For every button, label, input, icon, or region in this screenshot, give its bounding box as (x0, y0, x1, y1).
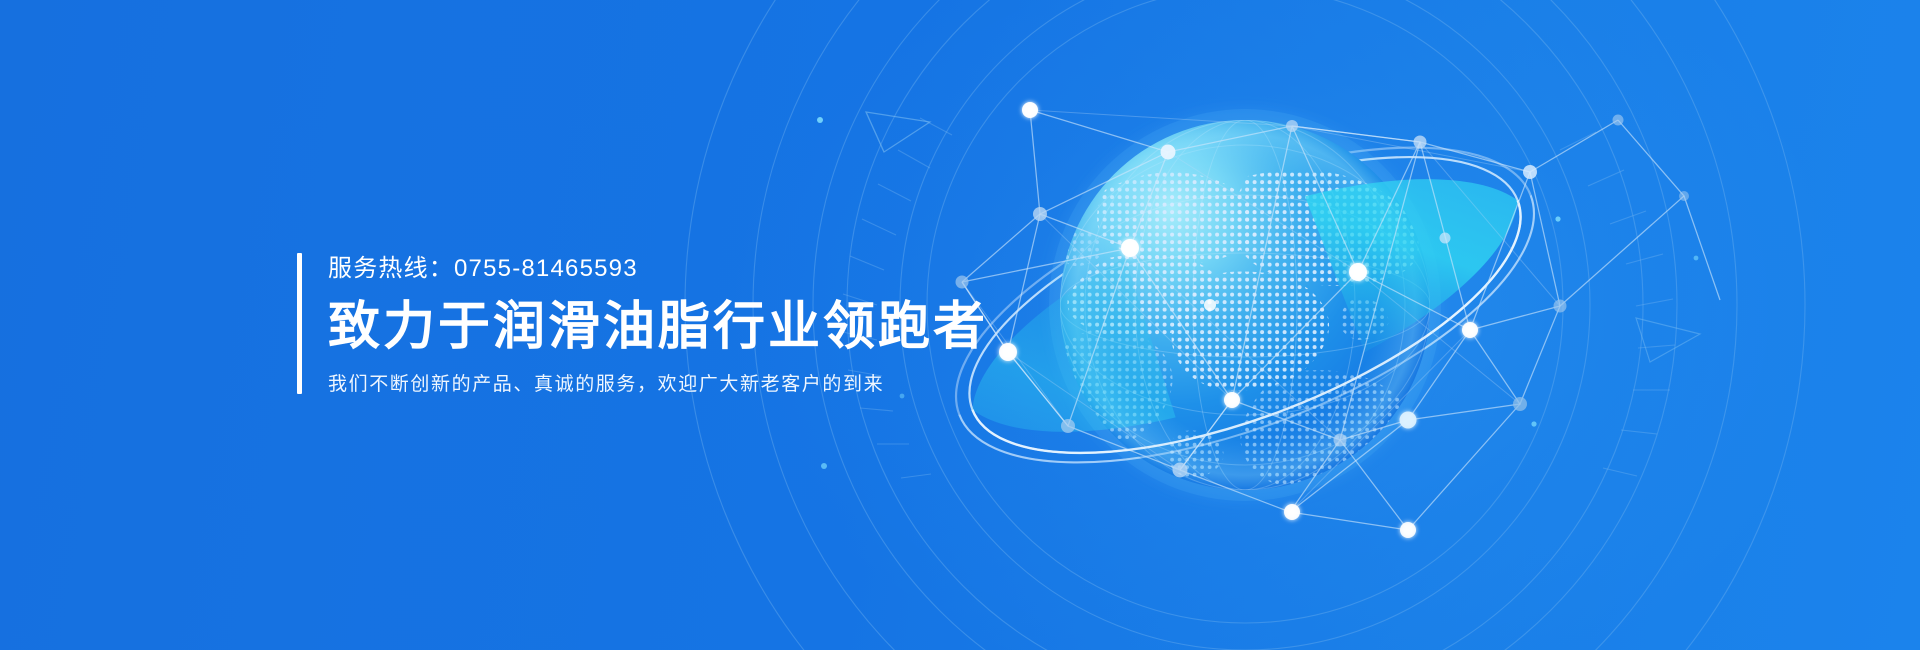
hero-text-column: 服务热线：0755-81465593 致力于润滑油脂行业领跑者 我们不断创新的产… (302, 253, 988, 394)
hero-subheadline: 我们不断创新的产品、真诚的服务，欢迎广大新老客户的到来 (328, 375, 988, 394)
arc-rungs-right (1560, 132, 1675, 476)
service-hotline: 服务热线：0755-81465593 (328, 253, 988, 281)
triangle-accent-right (1636, 318, 1700, 362)
hero-headline: 致力于润滑油脂行业领跑者 (328, 301, 988, 353)
hero-text-block: 服务热线：0755-81465593 致力于润滑油脂行业领跑者 我们不断创新的产… (297, 253, 988, 394)
hero-banner: 服务热线：0755-81465593 致力于润滑油脂行业领跑者 我们不断创新的产… (0, 0, 1920, 650)
